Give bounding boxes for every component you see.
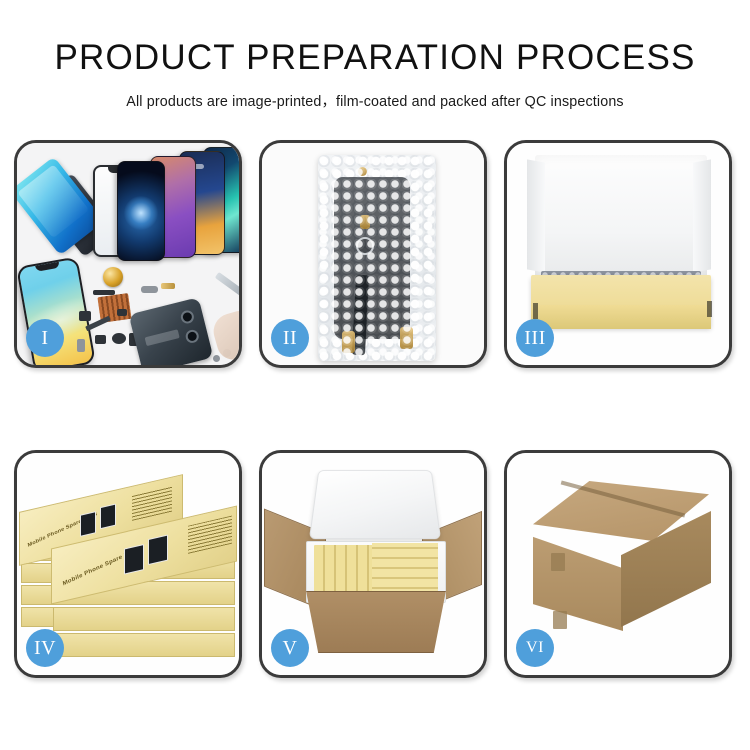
page-title: PRODUCT PREPARATION PROCESS — [0, 40, 750, 77]
connector-4 — [358, 167, 367, 176]
yellow-box-front-face — [531, 305, 711, 329]
panel-2-image: II — [262, 143, 484, 365]
process-step-panel-1[interactable]: I Mobile phone screens, tempered glass, … — [14, 140, 242, 368]
lcd-screen-inside-bag — [334, 177, 410, 339]
small-part-4 — [79, 311, 91, 321]
camera-cutout-icon — [356, 237, 374, 255]
box-thumbnail-front-1 — [124, 544, 144, 575]
bubble-wrap-bag-icon — [318, 155, 436, 361]
camera-lens-secondary-icon — [184, 328, 200, 344]
small-part-7 — [77, 339, 85, 352]
page-subtitle: All products are image-printed，film-coat… — [0, 90, 750, 111]
camera-lens-icon — [180, 309, 196, 325]
box-spec-lines-rear — [132, 486, 172, 521]
box-thumbnail-rear-1 — [80, 511, 96, 537]
carton-left-face — [533, 519, 623, 631]
panel-1-image: I — [17, 143, 239, 365]
connector-1 — [342, 331, 355, 353]
process-step-panel-4[interactable]: Mobile Phone Spare Parts Mobile Phone Sp… — [14, 450, 242, 678]
panel-6-image: VI — [507, 453, 729, 675]
step-badge-6: VI — [516, 629, 554, 667]
lid-flap-left — [527, 159, 545, 272]
connector-2 — [400, 327, 413, 349]
speaker-coil-part-icon — [103, 267, 123, 287]
step-badge-3: III — [516, 319, 554, 357]
header: PRODUCT PREPARATION PROCESS All products… — [0, 0, 750, 111]
box-thumbnail-front-2 — [148, 534, 168, 565]
lid-flap-right — [693, 159, 711, 272]
tray-corner-left — [533, 303, 538, 319]
process-step-grid: I Mobile phone screens, tempered glass, … — [14, 140, 736, 690]
small-part-9 — [117, 309, 127, 316]
white-foam-lid-icon — [535, 155, 707, 283]
step-badge-2: II — [271, 319, 309, 357]
product-preparation-infographic: PRODUCT PREPARATION PROCESS All products… — [0, 0, 750, 750]
housing-strip — [145, 329, 180, 346]
process-step-panel-6[interactable]: VI Sealed brown shipping carton ready fo… — [504, 450, 732, 678]
tray-corner-right — [707, 301, 712, 317]
box-spec-lines-front — [188, 516, 232, 554]
small-part-3 — [161, 283, 175, 289]
yellow-boxes-in-foam-second-row — [372, 543, 438, 597]
foam-box-lid-icon — [309, 470, 441, 539]
small-part-1 — [93, 290, 115, 295]
small-part-5 — [95, 335, 106, 344]
step-badge-1: I — [26, 319, 64, 357]
step-badge-5: V — [271, 629, 309, 667]
tweezer-tool-icon — [215, 272, 242, 301]
panel-4-image: Mobile Phone Spare Parts Mobile Phone Sp… — [17, 453, 239, 675]
small-part-2 — [141, 286, 158, 293]
small-part-12 — [213, 355, 220, 362]
step-badge-4: IV — [26, 629, 64, 667]
box-side-r3 — [53, 607, 235, 631]
box-thumbnail-rear-2 — [100, 504, 116, 530]
carton-tape-lower — [553, 611, 567, 629]
carton-tape-upper — [551, 553, 565, 571]
small-part-6 — [112, 333, 126, 344]
shipping-carton-open-icon — [300, 591, 452, 653]
phone-dark-wallpaper-icon — [117, 161, 165, 261]
process-step-panel-5[interactable]: V Retail boxes loaded in white foam box … — [259, 450, 487, 678]
connector-3 — [360, 215, 370, 229]
box-side-r4 — [53, 633, 235, 657]
panel-5-image: V — [262, 453, 484, 675]
panel-3-image: III — [507, 143, 729, 365]
process-step-panel-3[interactable]: III Bubble-wrapped units placed into yel… — [504, 140, 732, 368]
phone-back-housing-icon — [129, 297, 214, 368]
process-step-panel-2[interactable]: II Single LCD screen assembly sealed in … — [259, 140, 487, 368]
